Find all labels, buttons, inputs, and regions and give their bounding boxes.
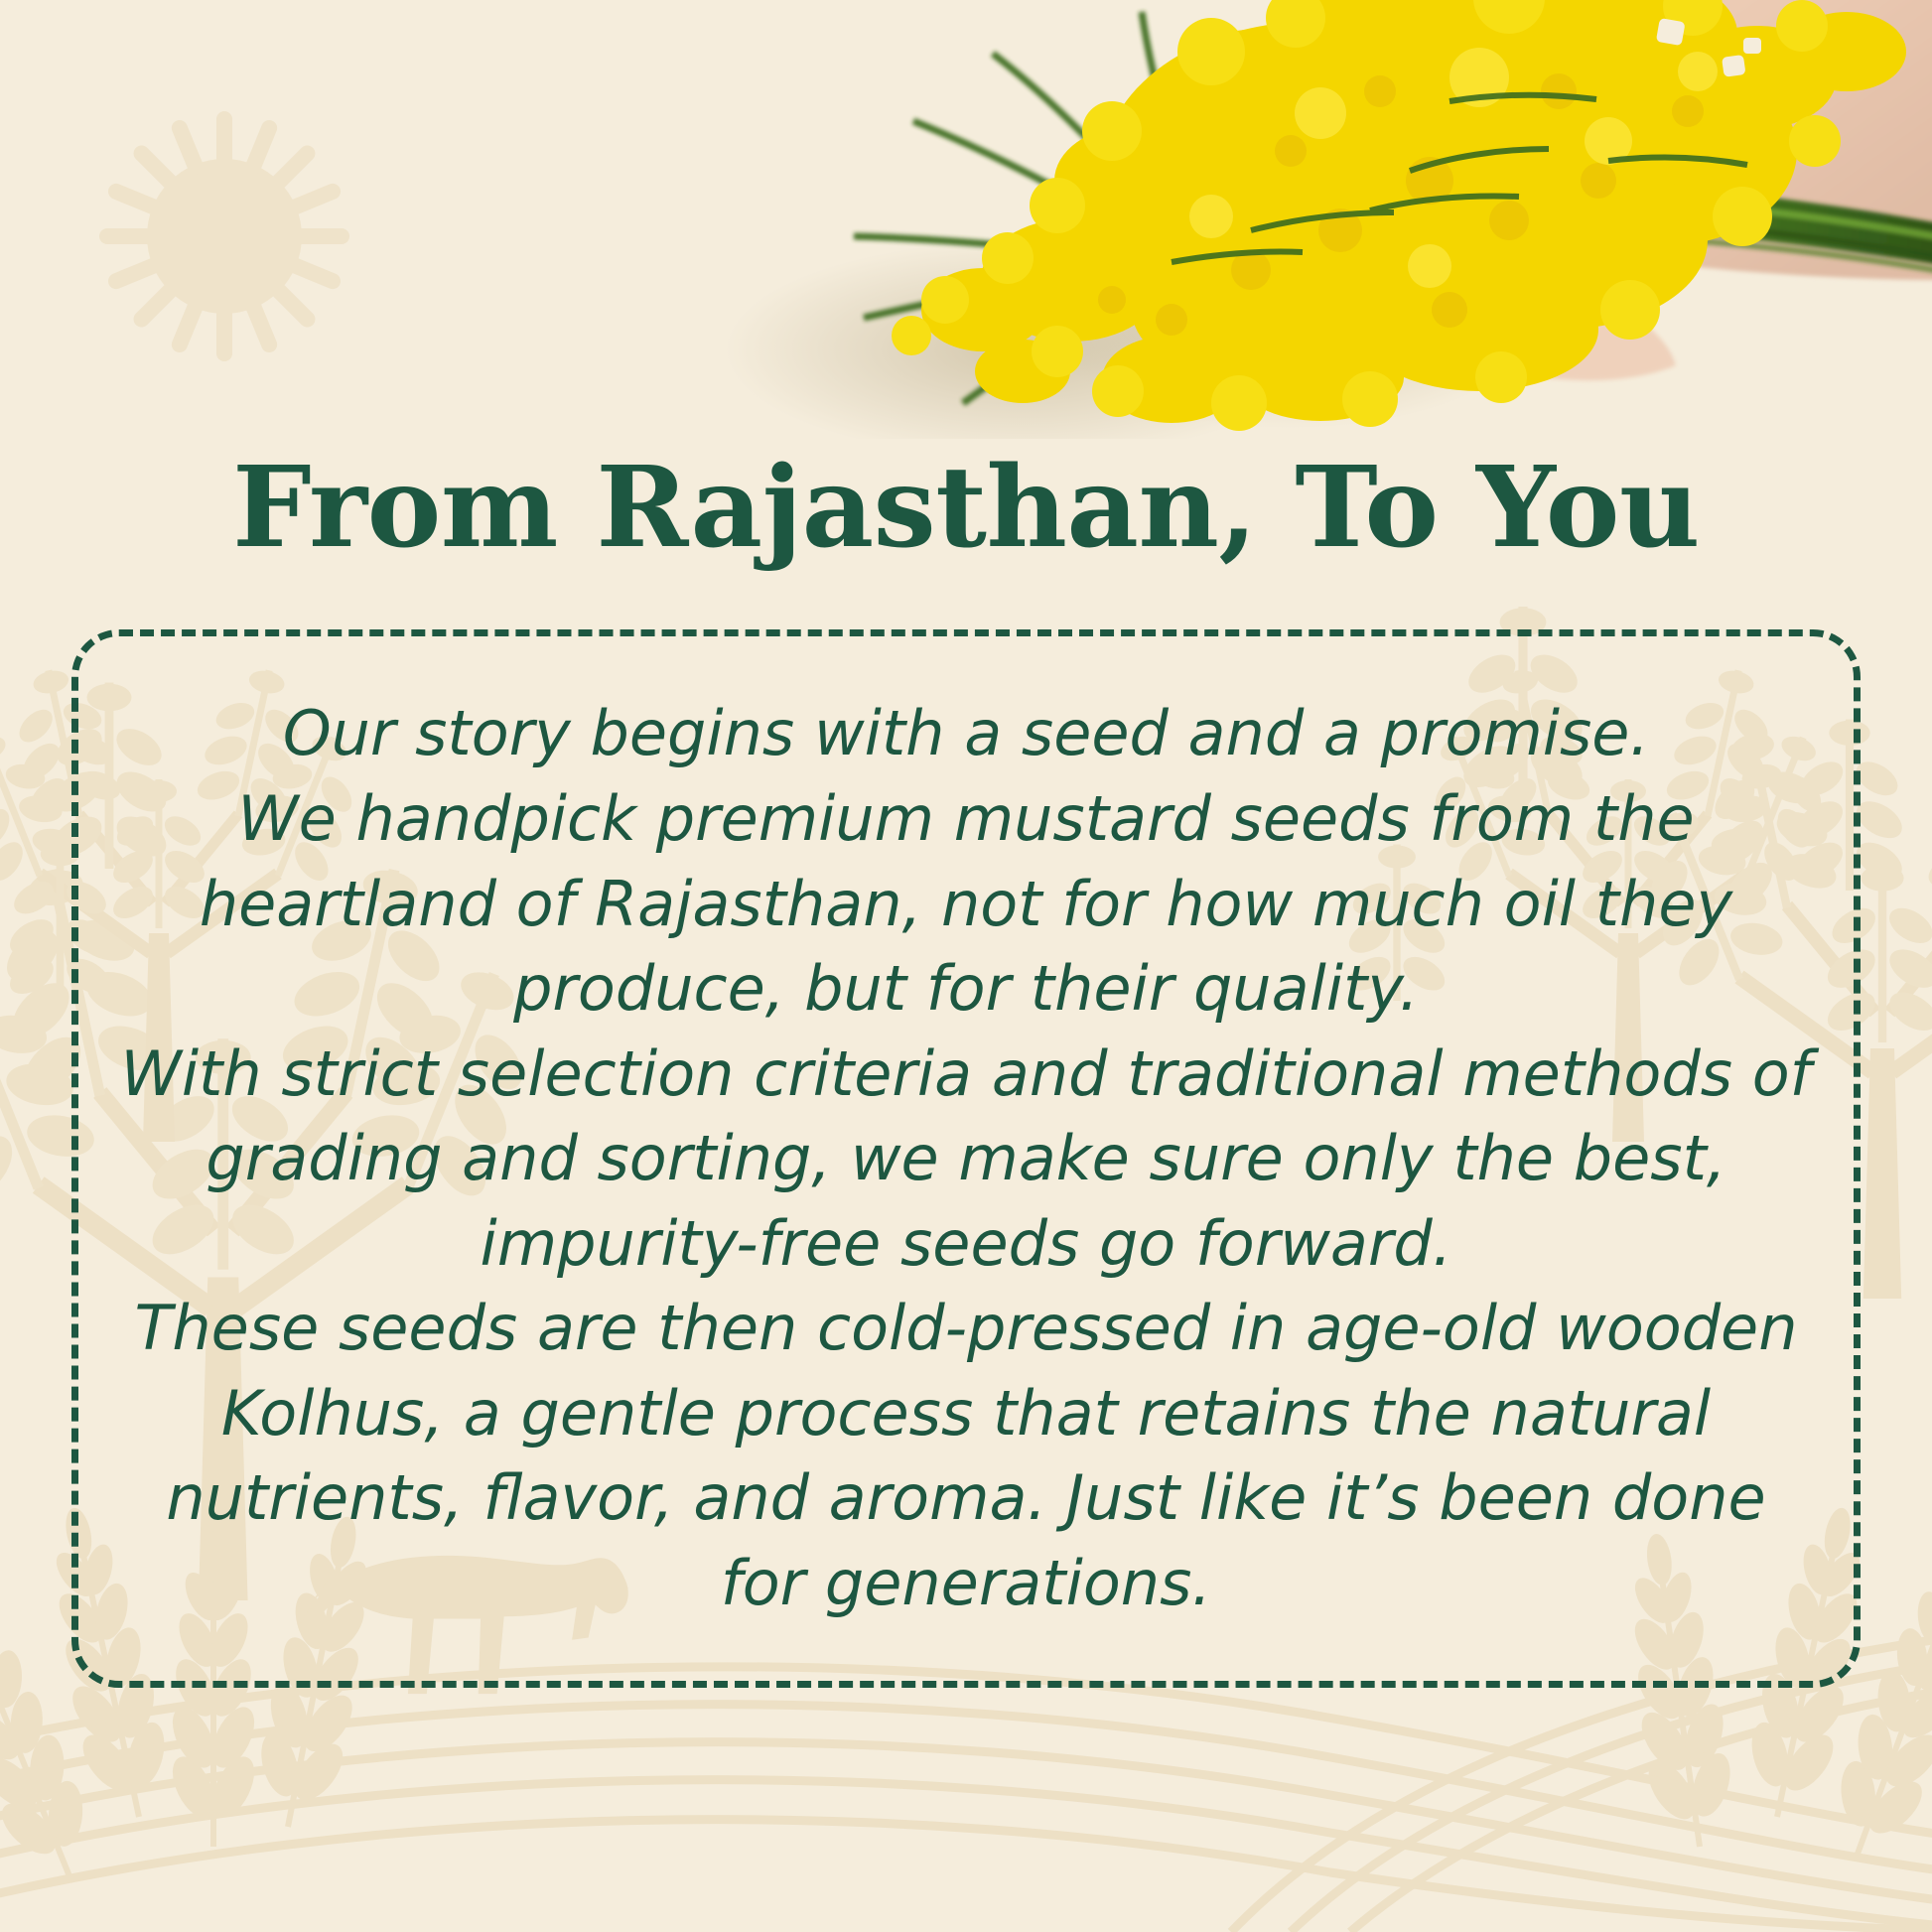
sun-icon	[66, 77, 383, 395]
mustard-flower-photo	[556, 0, 1932, 439]
story-paragraph-4: These seeds are then cold-pressed in age…	[118, 1286, 1814, 1625]
page-title-container: From Rajasthan, To You	[0, 449, 1932, 569]
story-paragraph-1: Our story begins with a seed and a promi…	[118, 691, 1814, 776]
watermark-field-lines	[0, 1667, 1932, 1932]
story-text: Our story begins with a seed and a promi…	[118, 691, 1814, 1625]
story-card: Our story begins with a seed and a promi…	[71, 629, 1861, 1688]
page-title: From Rajasthan, To You	[232, 449, 1700, 569]
story-paragraph-2: We handpick premium mustard seeds from t…	[118, 776, 1814, 1032]
story-paragraph-3: With strict selection criteria and tradi…	[118, 1032, 1814, 1287]
poster-canvas: From Rajasthan, To You Our story begins …	[0, 0, 1932, 1932]
